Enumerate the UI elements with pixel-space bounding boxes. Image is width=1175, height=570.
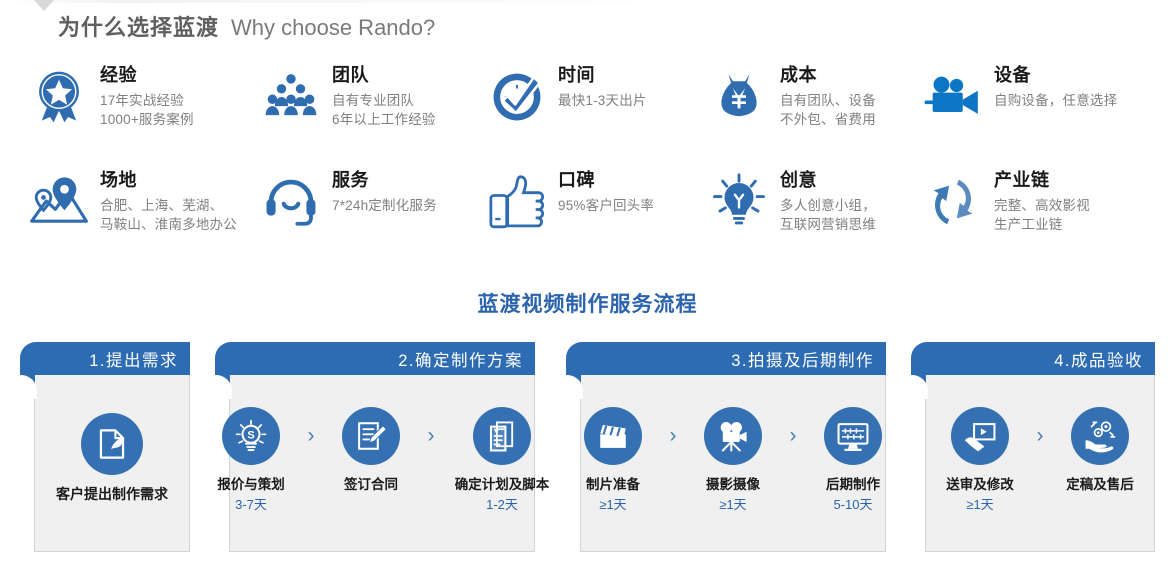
hand-coins-icon [1071, 407, 1129, 465]
process-step-label: 报价与策划 [217, 476, 285, 493]
document-pen-icon [81, 413, 143, 475]
process-step[interactable]: 客户提出制作需求 [37, 413, 187, 507]
process-step-label: 摄影摄像 [706, 476, 760, 493]
feature-title: 口碑 [558, 169, 654, 191]
process-card-header: 3.拍摄及后期制作 [566, 342, 886, 375]
process-card-body: 制片准备 ≥1天 › [580, 375, 886, 552]
lightbulb-icon [708, 171, 770, 233]
feature-text: 成本 自有团队、设备 不外包、省费用 [780, 62, 876, 129]
chevron-right-icon: › [300, 407, 322, 465]
feature-item-team: 团队 自有专业团队 6年以上工作经验 [260, 62, 486, 167]
feature-desc: 多人创意小组， 互联网营销思维 [780, 196, 876, 234]
feature-item-equipment: 设备 自购设备，任意选择 [922, 62, 1150, 167]
feature-title: 成本 [780, 64, 876, 86]
process-step[interactable]: S 报价与策划 3-7天 [202, 407, 300, 513]
process-step-days: ≥1天 [966, 497, 993, 513]
process-card-header: 4.成品验收 [911, 342, 1155, 375]
top-notch-marker [34, 0, 54, 11]
clock-check-icon [486, 66, 548, 128]
chevron-right-icon: › [782, 407, 804, 465]
feature-title: 创意 [780, 169, 876, 191]
feature-desc: 7*24h定制化服务 [332, 196, 437, 215]
feature-item-experience: 经验 17年实战经验 1000+服务案例 [28, 62, 260, 167]
top-divider [0, 0, 1175, 3]
process-card-1[interactable]: 1.提出需求 客户提出制作需求 [20, 342, 190, 552]
process-section-title: 蓝渡视频制作服务流程 [0, 288, 1175, 318]
process-card-3[interactable]: 3.拍摄及后期制作 [566, 342, 886, 552]
feature-title: 场地 [100, 169, 237, 191]
svg-text:S: S [247, 430, 254, 442]
process-steps: 制片准备 ≥1天 › [564, 407, 902, 519]
feature-text: 创意 多人创意小组， 互联网营销思维 [780, 167, 876, 234]
handshake-screen-icon [951, 407, 1009, 465]
feature-text: 场地 合肥、上海、芜湖、 马鞍山、淮南多地办公 [100, 167, 237, 234]
process-step-days: 5-10天 [833, 497, 872, 513]
process-step[interactable]: 签订合同 [322, 407, 420, 497]
feature-item-reputation: 口碑 95%客户回头率 [486, 167, 708, 272]
page-root: 为什么选择蓝渡Why choose Rando? 经验 17年实战经验 1 [0, 0, 1175, 570]
headset-icon [260, 171, 322, 233]
features-row-1: 经验 17年实战经验 1000+服务案例 [0, 62, 1175, 167]
feature-desc: 17年实战经验 1000+服务案例 [100, 91, 194, 129]
page-title: 为什么选择蓝渡Why choose Rando? [58, 10, 435, 42]
process-step-days: 3-7天 [235, 497, 267, 513]
process-step-label: 制片准备 [586, 476, 640, 493]
process-card-header: 1.提出需求 [20, 342, 190, 375]
thumbs-up-icon [486, 171, 548, 233]
process-steps: 客户提出制作需求 [37, 413, 187, 513]
movie-camera-icon [704, 407, 762, 465]
process-step-days: ≥1天 [719, 497, 746, 513]
money-bag-icon [708, 66, 770, 128]
feature-text: 服务 7*24h定制化服务 [332, 167, 437, 215]
feature-title: 产业链 [994, 169, 1090, 191]
feature-title: 经验 [100, 64, 194, 86]
process-step[interactable]: 制片准备 ≥1天 [564, 407, 662, 513]
process-step[interactable]: 摄影摄像 ≥1天 [684, 407, 782, 513]
process-step[interactable]: 确定计划及脚本 1-2天 [442, 407, 562, 513]
process-step-label: 客户提出制作需求 [56, 486, 168, 503]
feature-text: 团队 自有专业团队 6年以上工作经验 [332, 62, 436, 129]
feature-text: 产业链 完整、高效影视 生产工业链 [994, 167, 1090, 234]
feature-title: 设备 [994, 64, 1117, 86]
feature-desc: 合肥、上海、芜湖、 马鞍山、淮南多地办公 [100, 196, 237, 234]
process-step[interactable]: 后期制作 5-10天 [804, 407, 902, 513]
process-step-label: 定稿及售后 [1066, 476, 1134, 493]
feature-desc: 最快1-3天出片 [558, 91, 647, 110]
feature-desc: 自购设备，任意选择 [994, 91, 1117, 110]
process-step-label: 后期制作 [826, 476, 880, 493]
feature-text: 设备 自购设备，任意选择 [994, 62, 1117, 110]
video-camera-icon [922, 66, 984, 128]
process-steps: S 报价与策划 3-7天 › [202, 407, 562, 519]
page-title-en: Why choose Rando? [231, 15, 435, 40]
clapperboard-icon [584, 407, 642, 465]
process-step-days: 1-2天 [486, 497, 518, 513]
process-step-label: 送审及修改 [946, 476, 1014, 493]
script-docs-icon [473, 407, 531, 465]
chevron-right-icon: › [420, 407, 442, 465]
feature-item-time: 时间 最快1-3天出片 [486, 62, 708, 167]
feature-item-supply-chain: 产业链 完整、高效影视 生产工业链 [922, 167, 1150, 272]
process-card-header: 2.确定制作方案 [215, 342, 535, 375]
contract-sign-icon [342, 407, 400, 465]
feature-desc: 完整、高效影视 生产工业链 [994, 196, 1090, 234]
process-step[interactable]: 定稿及售后 [1051, 407, 1149, 497]
feature-item-cost: 成本 自有团队、设备 不外包、省费用 [708, 62, 922, 167]
feature-desc: 自有团队、设备 不外包、省费用 [780, 91, 876, 129]
chevron-right-icon: › [1029, 407, 1051, 465]
bulb-dollar-icon: S [222, 407, 280, 465]
feature-text: 经验 17年实战经验 1000+服务案例 [100, 62, 194, 129]
process-card-4[interactable]: 4.成品验收 送审及修改 [911, 342, 1155, 552]
feature-item-service: 服务 7*24h定制化服务 [260, 167, 486, 272]
process-card-body: S 报价与策划 3-7天 › [229, 375, 535, 552]
process-step-label: 签订合同 [344, 476, 398, 493]
feature-title: 团队 [332, 64, 436, 86]
process-card-body: 客户提出制作需求 [34, 375, 190, 552]
feature-text: 时间 最快1-3天出片 [558, 62, 647, 110]
feature-title: 时间 [558, 64, 647, 86]
features-row-2: 场地 合肥、上海、芜湖、 马鞍山、淮南多地办公 服务 7*24h [0, 167, 1175, 272]
recycle-arrows-icon [922, 171, 984, 233]
feature-title: 服务 [332, 169, 437, 191]
ribbon-award-icon [28, 66, 90, 128]
page-title-cn: 为什么选择蓝渡 [58, 15, 219, 40]
map-location-icon [28, 171, 90, 233]
process-cards: 1.提出需求 客户提出制作需求 [0, 342, 1175, 554]
features-grid: 经验 17年实战经验 1000+服务案例 [0, 62, 1175, 272]
process-card-body: 送审及修改 ≥1天 › [925, 375, 1155, 552]
process-steps: 送审及修改 ≥1天 › [931, 407, 1149, 519]
feature-desc: 95%客户回头率 [558, 196, 654, 215]
chevron-right-icon: › [662, 407, 684, 465]
process-card-2[interactable]: 2.确定制作方案 [215, 342, 535, 552]
feature-item-location: 场地 合肥、上海、芜湖、 马鞍山、淮南多地办公 [28, 167, 260, 272]
process-step-label: 确定计划及脚本 [455, 476, 550, 493]
process-step[interactable]: 送审及修改 ≥1天 [931, 407, 1029, 513]
process-step-days: ≥1天 [599, 497, 626, 513]
feature-desc: 自有专业团队 6年以上工作经验 [332, 91, 436, 129]
monitor-edit-icon [824, 407, 882, 465]
feature-item-creativity: 创意 多人创意小组， 互联网营销思维 [708, 167, 922, 272]
team-people-icon [260, 66, 322, 128]
feature-text: 口碑 95%客户回头率 [558, 167, 654, 215]
